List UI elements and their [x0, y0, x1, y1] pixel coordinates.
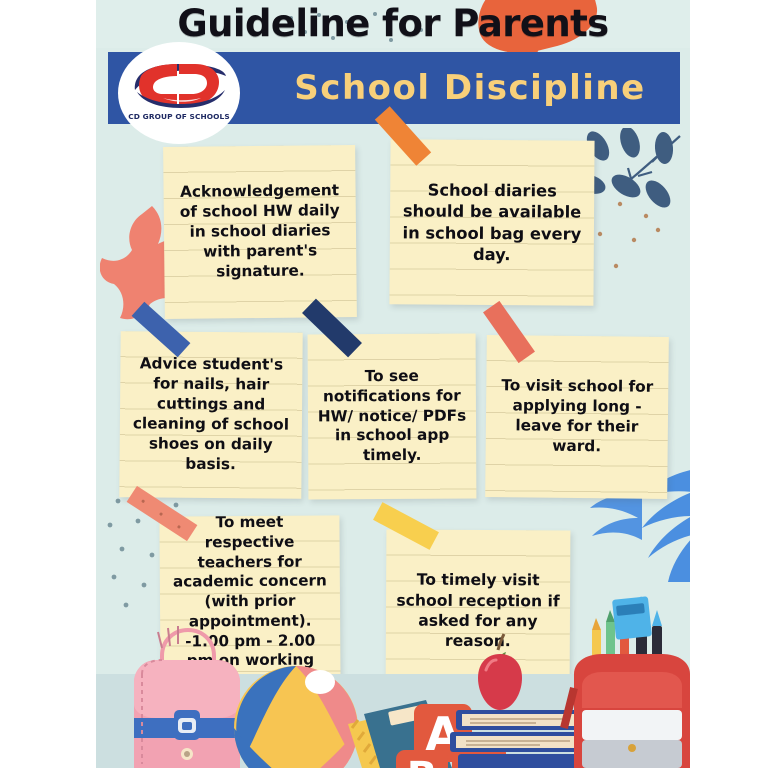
- guideline-note-card: Acknowledgement of school HW daily in sc…: [163, 145, 357, 319]
- guideline-note-card: Advice student's for nails, hair cutting…: [119, 331, 302, 499]
- svg-text:B: B: [407, 754, 438, 768]
- poster-root: Guideline for Parents School Discipline …: [0, 0, 768, 768]
- note-text: Advice student's for nails, hair cutting…: [119, 355, 302, 476]
- guideline-note-card: School diaries should be available in sc…: [389, 139, 594, 305]
- note-text: To see notifications for HW/ notice/ PDF…: [308, 366, 477, 466]
- red-backpack-with-supplies-icon: [564, 596, 690, 768]
- red-apple-icon: [478, 634, 522, 710]
- pink-backpack-icon: [134, 626, 240, 768]
- note-text: To visit school for applying long - leav…: [486, 376, 669, 457]
- logo-caption: CD GROUP OF SCHOOLS: [118, 112, 240, 121]
- school-supplies-illustration: A B C: [96, 578, 690, 768]
- note-text: School diaries should be available in sc…: [390, 179, 595, 265]
- cd-monogram-icon: [129, 56, 229, 112]
- guideline-note-card: To visit school for applying long - leav…: [485, 335, 669, 499]
- note-text: Acknowledgement of school HW daily in sc…: [163, 181, 356, 282]
- guideline-note-card: To see notifications for HW/ notice/ PDF…: [308, 334, 477, 500]
- banner-title: School Discipline: [260, 60, 680, 116]
- page-title: Guideline for Parents: [96, 2, 690, 45]
- poster-page: Guideline for Parents School Discipline …: [96, 0, 690, 768]
- school-logo: CD GROUP OF SCHOOLS: [118, 42, 240, 144]
